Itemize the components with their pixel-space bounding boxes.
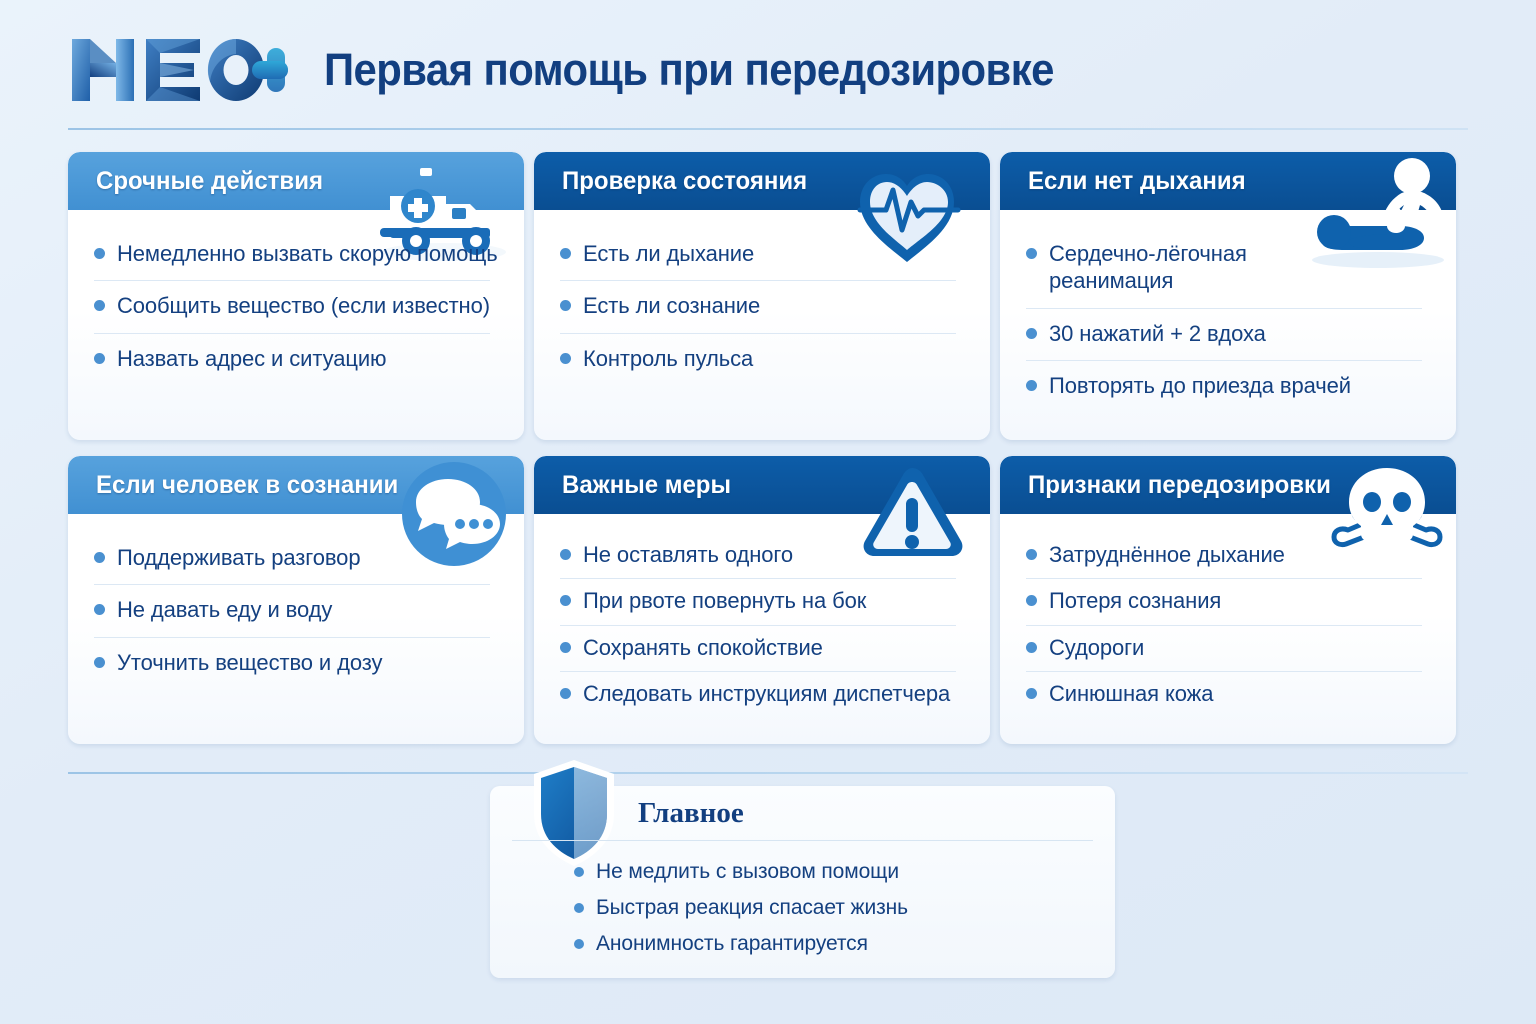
list-item-label: Есть ли дыхание bbox=[583, 240, 754, 267]
card-overdose-signs[interactable]: Признаки передозировки Затруднённое дыха… bbox=[1000, 456, 1456, 744]
bullet-dot-icon bbox=[560, 549, 571, 560]
bullet-dot-icon bbox=[560, 248, 571, 259]
list-item: Синюшная кожа bbox=[1026, 671, 1430, 717]
list-item: Не оставлять одного bbox=[560, 532, 964, 578]
summary-panel[interactable]: Главное Не медлить с вызовом помощи Быст… bbox=[490, 786, 1115, 978]
summary-header: Главное bbox=[490, 786, 1115, 840]
neo-plus-logo-icon bbox=[68, 33, 290, 107]
card-header: Проверка состояния bbox=[534, 152, 990, 210]
card-bullet-list: Есть ли дыхание Есть ли сознание Контрол… bbox=[534, 210, 990, 395]
list-item-label: Есть ли сознание bbox=[583, 292, 760, 319]
card-no-breathing[interactable]: Если нет дыхания Сердечно-лёгочная реани… bbox=[1000, 152, 1456, 440]
list-item: Уточнить вещество и дозу bbox=[94, 637, 498, 689]
list-item: Судороги bbox=[1026, 625, 1430, 671]
list-item-label: Повторять до приезда врачей bbox=[1049, 372, 1351, 399]
list-item: Сообщить вещество (если известно) bbox=[94, 280, 498, 332]
list-item: Затруднённое дыхание bbox=[1026, 532, 1430, 578]
card-bullet-list: Немедленно вызвать скорую помощь Сообщит… bbox=[68, 210, 524, 395]
list-item: Есть ли сознание bbox=[560, 280, 964, 332]
card-title: Если нет дыхания bbox=[1028, 167, 1246, 196]
card-bullet-list: Затруднённое дыхание Потеря сознания Суд… bbox=[1000, 514, 1456, 727]
card-bullet-list: Поддерживать разговор Не давать еду и во… bbox=[68, 514, 524, 699]
list-item-label: Следовать инструкциям диспетчера bbox=[583, 680, 950, 707]
list-item: Следовать инструкциям диспетчера bbox=[560, 671, 964, 717]
bullet-dot-icon bbox=[94, 552, 105, 563]
summary-bullet-list: Не медлить с вызовом помощи Быстрая реак… bbox=[490, 840, 1115, 962]
bullet-dot-icon bbox=[574, 867, 584, 877]
card-header: Признаки передозировки bbox=[1000, 456, 1456, 514]
list-item: Назвать адрес и ситуацию bbox=[94, 333, 498, 385]
list-item-label: Немедленно вызвать скорую помощь bbox=[117, 240, 498, 267]
list-item-label: Контроль пульса bbox=[583, 345, 753, 372]
card-important-measures[interactable]: Важные меры Не оставлять одного При рвот… bbox=[534, 456, 990, 744]
list-item: Потеря сознания bbox=[1026, 578, 1430, 624]
card-header: Если человек в сознании bbox=[68, 456, 524, 514]
list-item: Анонимность гарантируется bbox=[574, 926, 1115, 962]
bullet-dot-icon bbox=[560, 353, 571, 364]
list-item: Повторять до приезда врачей bbox=[1026, 360, 1430, 412]
list-item-label: Судороги bbox=[1049, 634, 1144, 661]
page-header: Первая помощь при передозировке bbox=[68, 22, 1468, 118]
bullet-dot-icon bbox=[1026, 380, 1037, 391]
list-item-label: Потеря сознания bbox=[1049, 587, 1221, 614]
list-item-label: Уточнить вещество и дозу bbox=[117, 649, 382, 676]
list-item: Поддерживать разговор bbox=[94, 532, 498, 584]
list-item: Не давать еду и воду bbox=[94, 584, 498, 636]
bullet-dot-icon bbox=[94, 657, 105, 668]
bullet-dot-icon bbox=[94, 353, 105, 364]
list-item-label: Сообщить вещество (если известно) bbox=[117, 292, 490, 319]
card-urgent-actions[interactable]: Срочные действия bbox=[68, 152, 524, 440]
bullet-dot-icon bbox=[94, 604, 105, 615]
bullet-dot-icon bbox=[560, 300, 571, 311]
card-bullet-list: Не оставлять одного При рвоте повернуть … bbox=[534, 514, 990, 727]
list-item-label: Не давать еду и воду bbox=[117, 596, 332, 623]
list-item-label: Поддерживать разговор bbox=[117, 544, 360, 571]
page-title: Первая помощь при передозировке bbox=[324, 44, 1054, 96]
list-item-label: При рвоте повернуть на бок bbox=[583, 587, 866, 614]
bullet-dot-icon bbox=[1026, 595, 1037, 606]
list-item-label: Быстрая реакция спасает жизнь bbox=[596, 895, 908, 921]
list-item: Есть ли дыхание bbox=[560, 228, 964, 280]
bullet-dot-icon bbox=[560, 595, 571, 606]
bullet-dot-icon bbox=[94, 300, 105, 311]
card-title: Если человек в сознании bbox=[96, 471, 398, 500]
list-item: Не медлить с вызовом помощи bbox=[574, 854, 1115, 890]
list-item: Немедленно вызвать скорую помощь bbox=[94, 228, 498, 280]
bullet-dot-icon bbox=[560, 688, 571, 699]
list-item-label: Не медлить с вызовом помощи bbox=[596, 859, 899, 885]
bullet-dot-icon bbox=[574, 939, 584, 949]
bullet-dot-icon bbox=[1026, 688, 1037, 699]
card-person-conscious[interactable]: Если человек в сознании Поддерживать раз… bbox=[68, 456, 524, 744]
bullet-dot-icon bbox=[1026, 549, 1037, 560]
summary-title: Главное bbox=[638, 797, 744, 830]
list-item: Контроль пульса bbox=[560, 333, 964, 385]
bullet-dot-icon bbox=[560, 642, 571, 653]
list-item-label: 30 нажатий + 2 вдоха bbox=[1049, 320, 1266, 347]
bullet-dot-icon bbox=[1026, 642, 1037, 653]
list-item-label: Сохранять спокойствие bbox=[583, 634, 823, 661]
summary-divider bbox=[512, 840, 1093, 841]
card-title: Срочные действия bbox=[96, 167, 323, 196]
footer-divider bbox=[68, 772, 1468, 774]
list-item-label: Анонимность гарантируется bbox=[596, 931, 868, 957]
list-item-label: Сердечно-лёгочная реанимация bbox=[1049, 240, 1279, 295]
card-condition-check[interactable]: Проверка состояния Есть ли дыхание Есть … bbox=[534, 152, 990, 440]
list-item: 30 нажатий + 2 вдоха bbox=[1026, 308, 1430, 360]
list-item-label: Не оставлять одного bbox=[583, 541, 793, 568]
card-title: Признаки передозировки bbox=[1028, 471, 1331, 500]
card-header: Важные меры bbox=[534, 456, 990, 514]
header-divider bbox=[68, 128, 1468, 130]
list-item: Сохранять спокойствие bbox=[560, 625, 964, 671]
card-title: Проверка состояния bbox=[562, 167, 807, 196]
cards-grid: Срочные действия bbox=[68, 152, 1468, 744]
list-item-label: Назвать адрес и ситуацию bbox=[117, 345, 386, 372]
card-title: Важные меры bbox=[562, 471, 731, 500]
list-item-label: Синюшная кожа bbox=[1049, 680, 1213, 707]
card-header: Срочные действия bbox=[68, 152, 524, 210]
list-item: При рвоте повернуть на бок bbox=[560, 578, 964, 624]
bullet-dot-icon bbox=[1026, 328, 1037, 339]
bullet-dot-icon bbox=[1026, 248, 1037, 259]
list-item-label: Затруднённое дыхание bbox=[1049, 541, 1285, 568]
card-header: Если нет дыхания bbox=[1000, 152, 1456, 210]
list-item: Сердечно-лёгочная реанимация bbox=[1026, 228, 1430, 308]
bullet-dot-icon bbox=[94, 248, 105, 259]
bullet-dot-icon bbox=[574, 903, 584, 913]
list-item: Быстрая реакция спасает жизнь bbox=[574, 890, 1115, 926]
card-bullet-list: Сердечно-лёгочная реанимация 30 нажатий … bbox=[1000, 210, 1456, 422]
